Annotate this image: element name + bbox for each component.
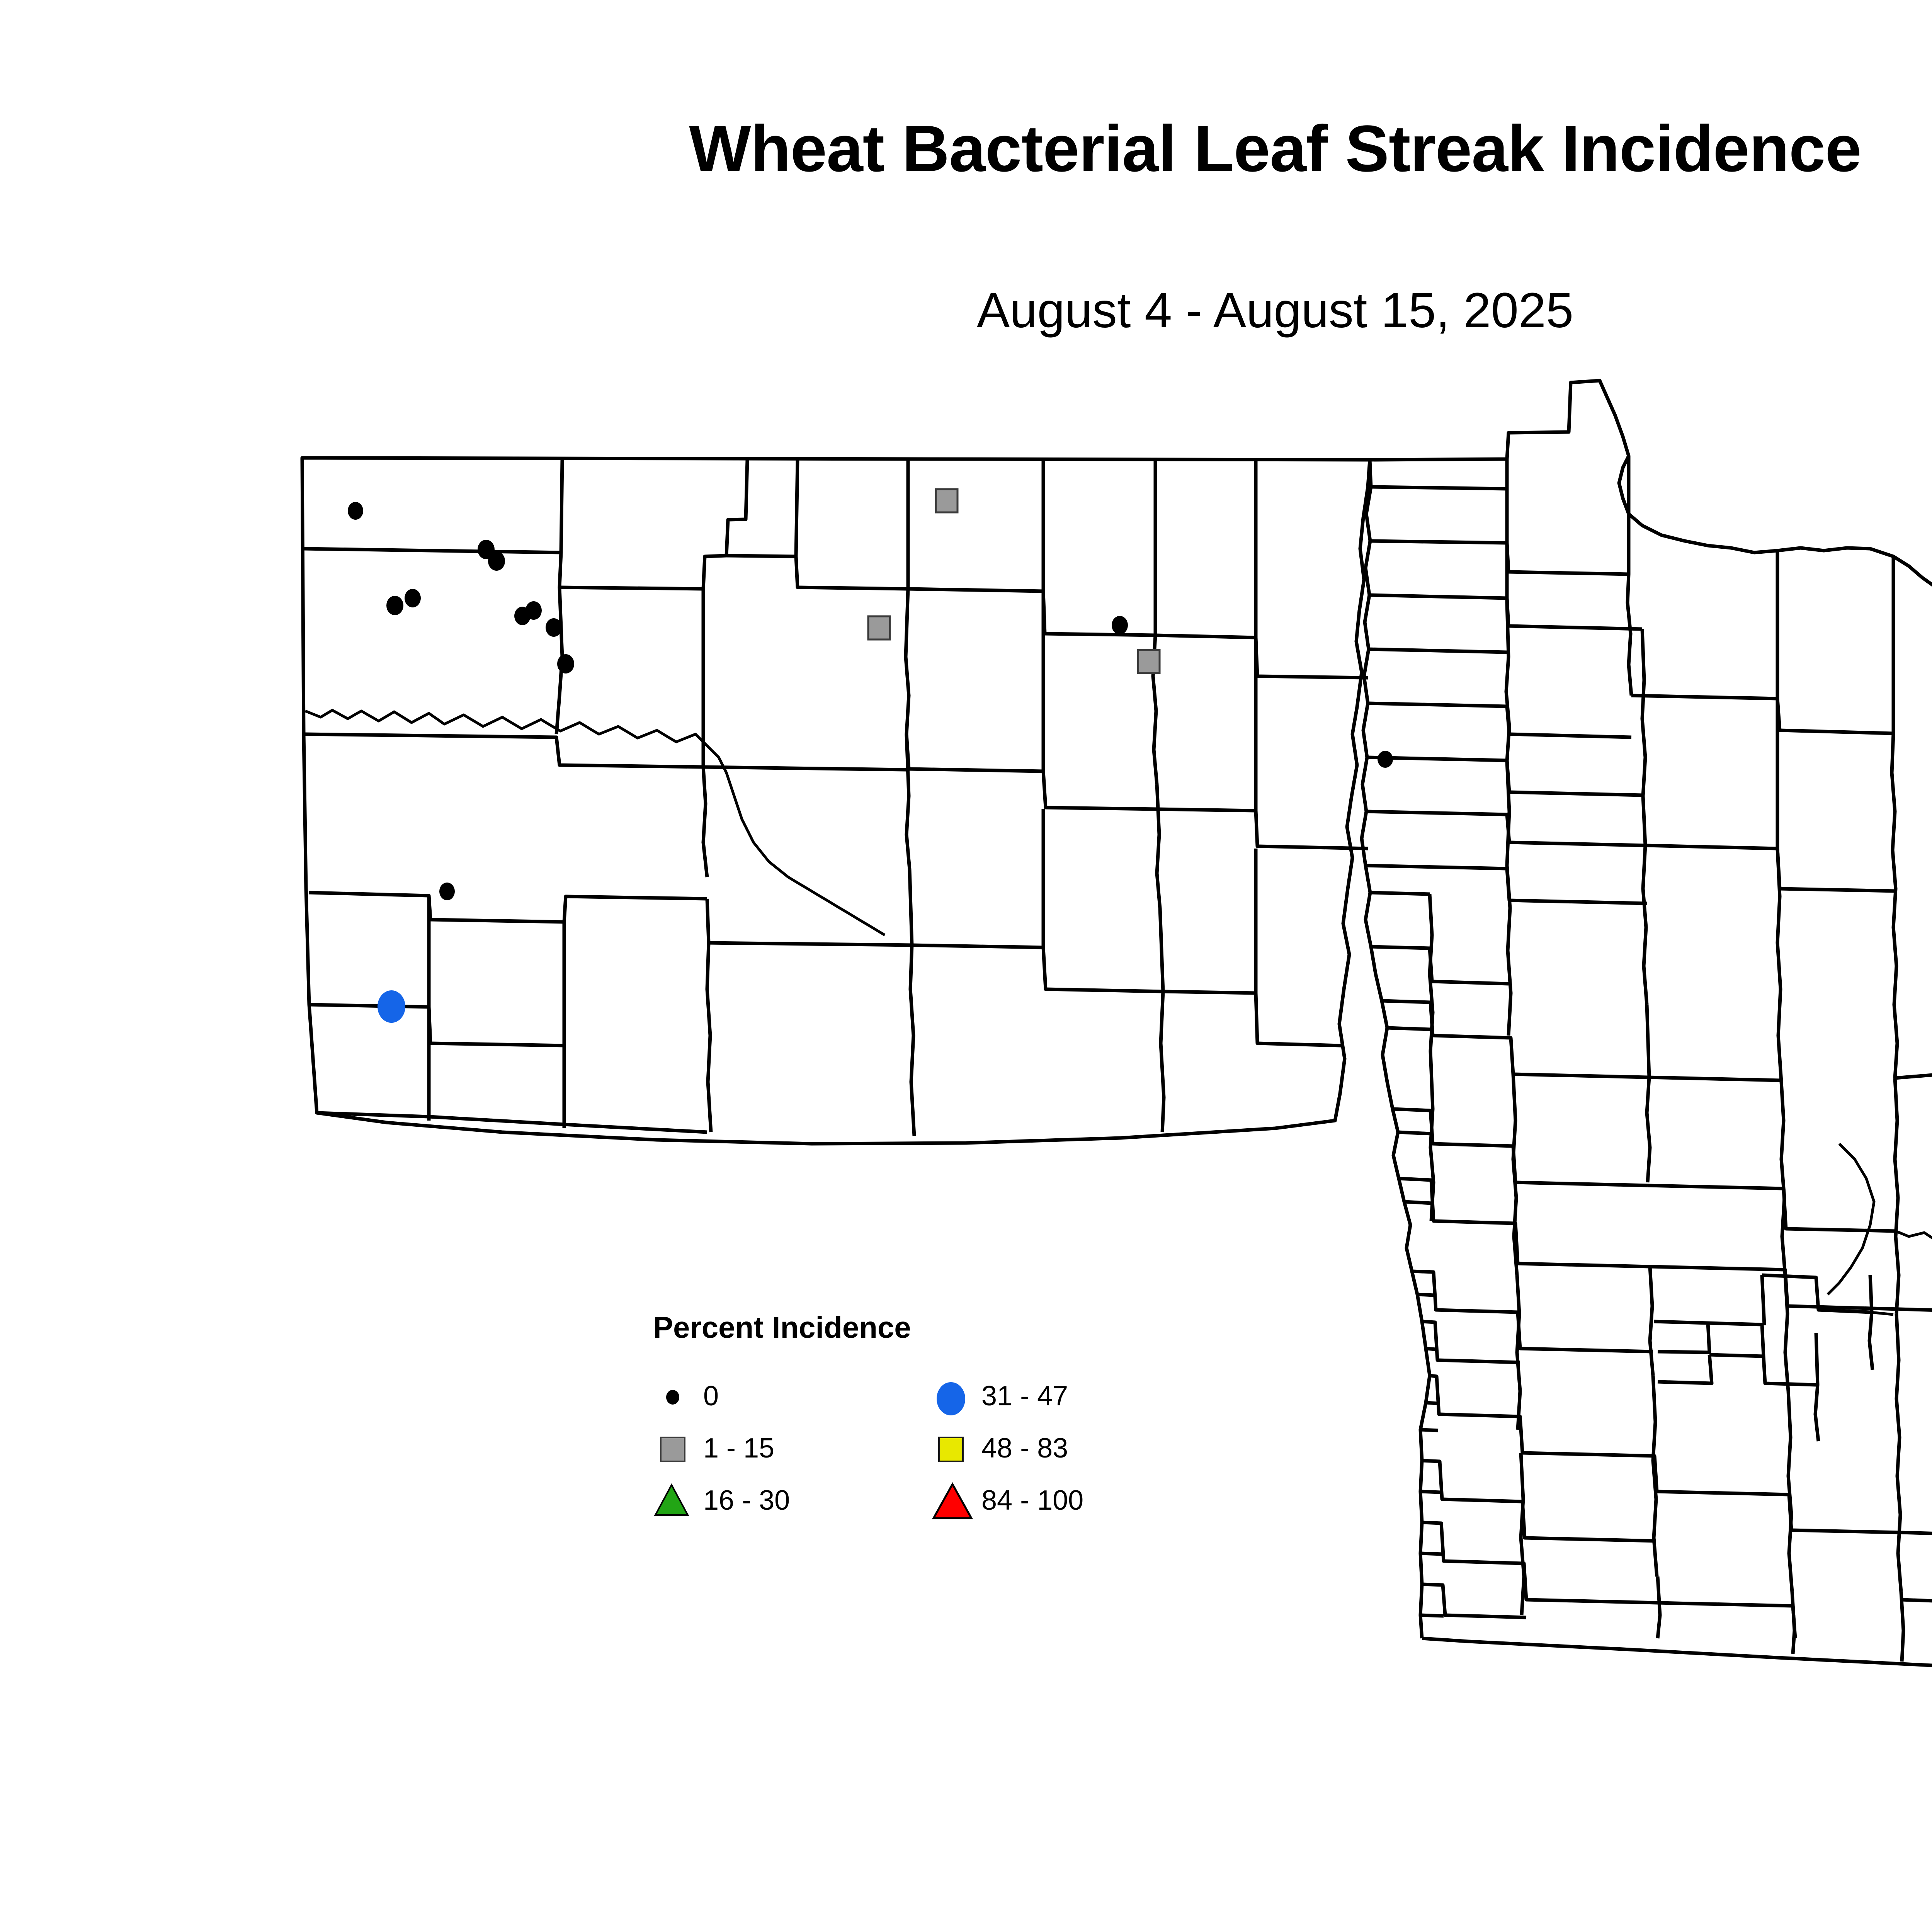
marker-zero [1112,616,1128,634]
legend-symbol-yellow-square [931,1430,974,1467]
marker-low [1138,650,1160,673]
marker-zero [439,883,455,900]
marker-low [868,616,890,639]
legend-title: Percent Incidence [653,1310,911,1345]
legend-label-4: 48 - 83 [981,1433,1068,1464]
marker-zero [526,601,542,620]
red-triangle-icon [931,1482,974,1520]
map-page: Wheat Bacterial Leaf Streak Incidence Au… [0,0,1932,1932]
legend-symbol-blue-circle [931,1378,974,1415]
marker-zero [557,654,574,673]
legend-label-3: 31 - 47 [981,1381,1068,1412]
legend-symbol-small-black-circle [653,1378,696,1415]
north-dakota-county-lines [302,458,1370,1144]
minnesota-county-lines [1362,381,1932,1681]
legend-label-2: 16 - 30 [703,1485,790,1516]
marker-zero [546,618,562,637]
marker-zero [1378,751,1393,768]
marker-low [936,489,957,512]
legend-symbol-red-triangle [931,1482,974,1519]
legend-label-0: 0 [703,1381,719,1412]
marker-mid [378,990,405,1023]
state-county-map [0,0,1932,1932]
legend-label-1: 1 - 15 [703,1433,774,1464]
incidence-markers [348,489,1393,1023]
green-triangle-icon [653,1482,690,1517]
marker-zero [405,589,421,607]
map-canvas [0,0,1932,1932]
marker-zero [386,596,403,615]
legend-symbol-green-triangle [653,1482,696,1519]
legend-symbol-gray-square [653,1430,696,1467]
map-legend: Percent Incidence 0 1 - 15 16 - 30 [653,1310,1194,1580]
legend-label-5: 84 - 100 [981,1485,1083,1516]
marker-zero [488,551,505,571]
marker-zero [348,502,363,520]
